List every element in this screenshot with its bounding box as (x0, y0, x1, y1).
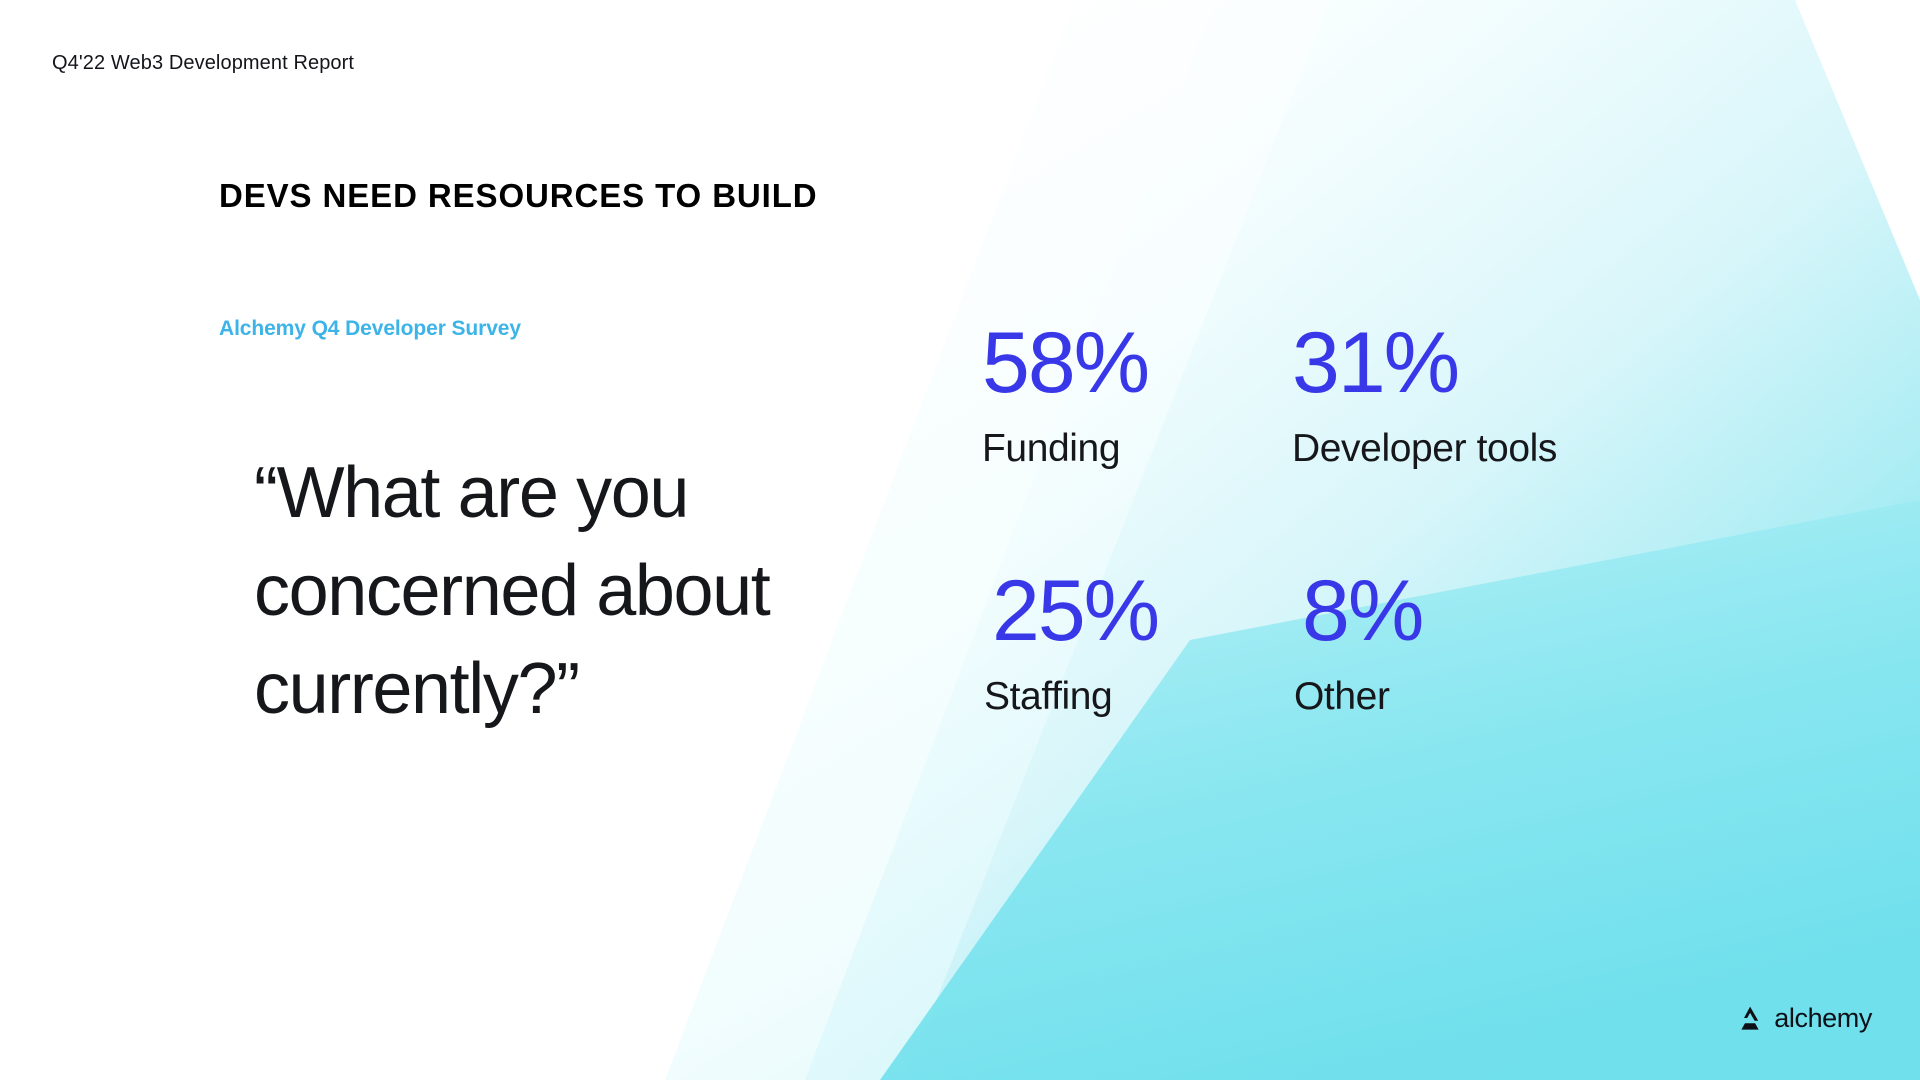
quote-line-1: “What are you (254, 444, 934, 542)
survey-question-quote: “What are you concerned about currently?… (254, 444, 934, 738)
stat-label-developer-tools: Developer tools (1292, 428, 1602, 470)
stat-item-staffing: 25% Staffing (982, 568, 1292, 718)
stat-value-funding: 58% (982, 320, 1292, 406)
stat-label-other: Other (1292, 676, 1602, 718)
stat-item-funding: 58% Funding (982, 320, 1292, 568)
quote-line-3: currently?” (254, 640, 934, 738)
report-label: Q4'22 Web3 Development Report (52, 52, 354, 75)
stat-value-other: 8% (1292, 568, 1602, 654)
stat-value-developer-tools: 31% (1292, 320, 1602, 406)
stat-label-funding: Funding (982, 428, 1292, 470)
alchemy-logo: alchemy (1735, 1005, 1872, 1032)
stat-value-staffing: 25% (982, 568, 1292, 654)
alchemy-triangle-icon (1735, 1006, 1765, 1032)
stat-item-other: 8% Other (1292, 568, 1602, 718)
quote-line-2: concerned about (254, 542, 934, 640)
slide-content: Q4'22 Web3 Development Report DEVS NEED … (0, 0, 1920, 1080)
stat-item-developer-tools: 31% Developer tools (1292, 320, 1602, 568)
alchemy-wordmark: alchemy (1774, 1005, 1872, 1032)
survey-results-stats: 58% Funding 31% Developer tools 25% Staf… (982, 320, 1702, 718)
stat-label-staffing: Staffing (982, 676, 1292, 718)
survey-source-label: Alchemy Q4 Developer Survey (219, 317, 521, 341)
page-title: DEVS NEED RESOURCES TO BUILD (219, 177, 818, 215)
